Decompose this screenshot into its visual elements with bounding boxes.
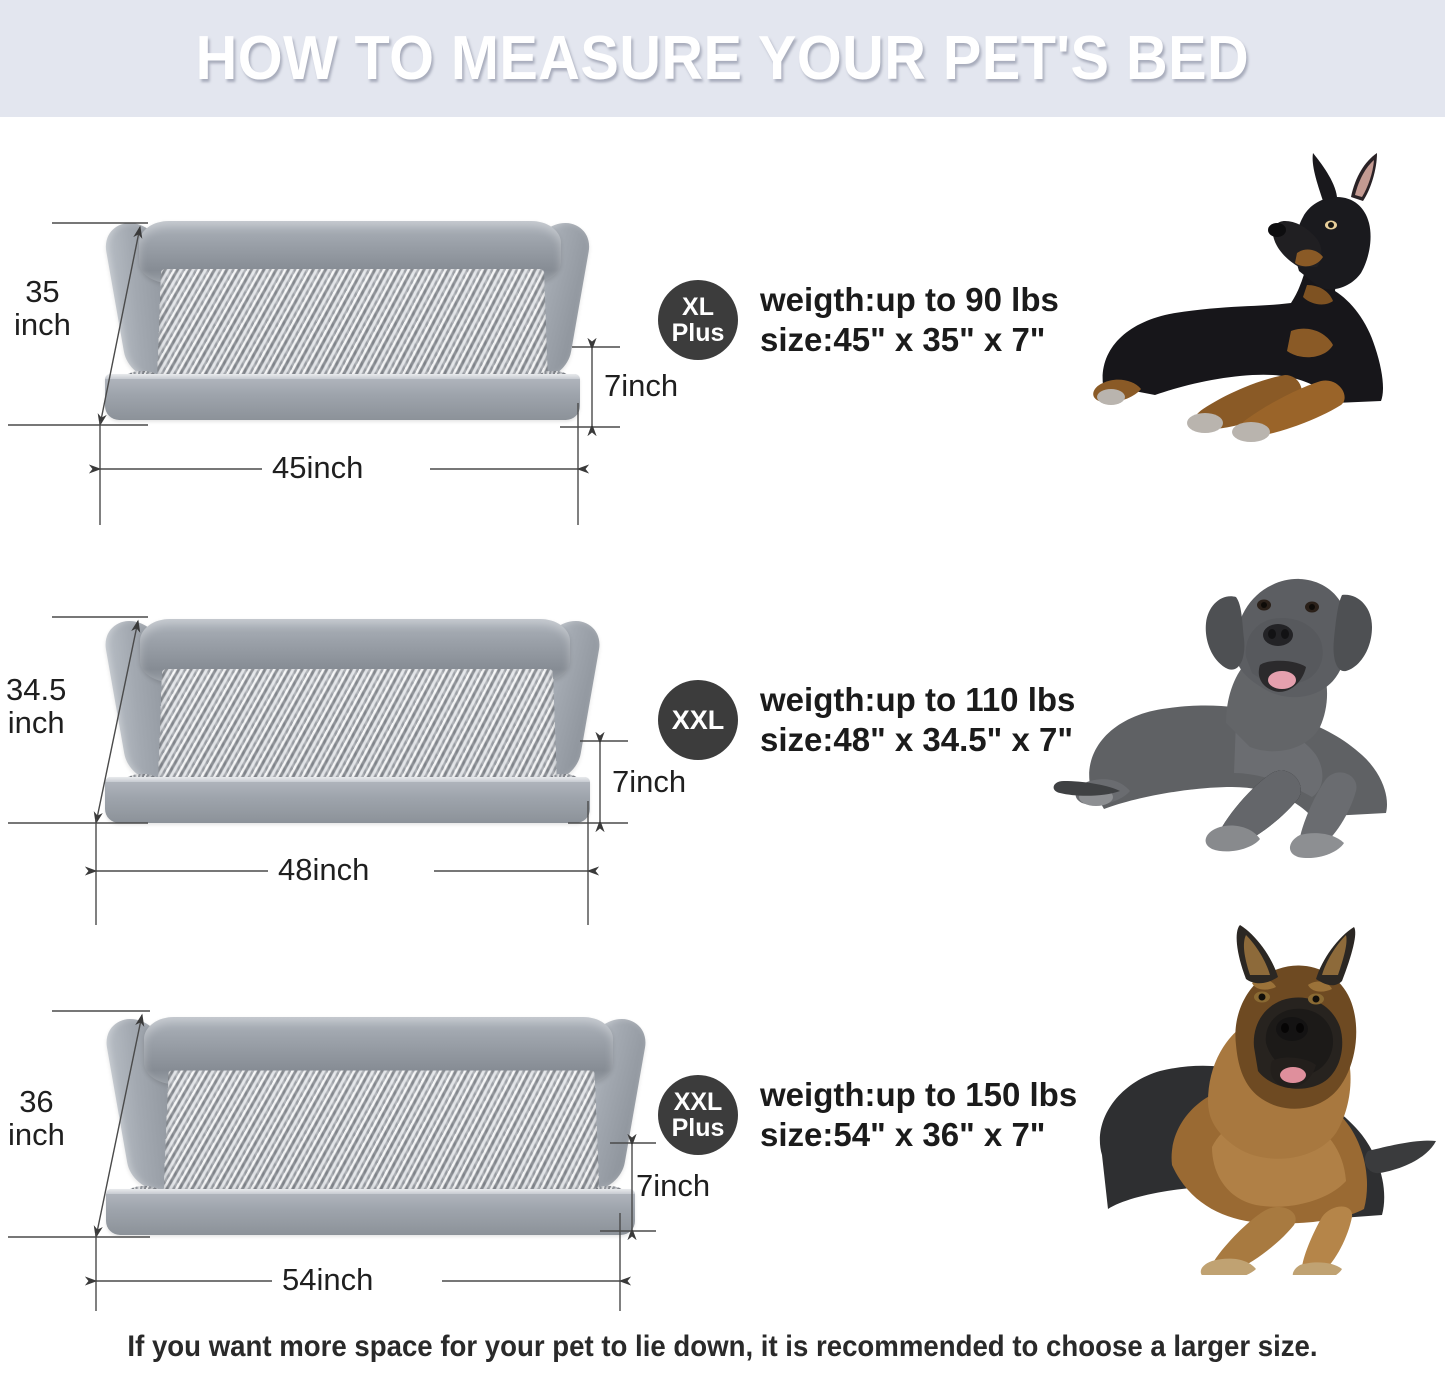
size-badge-line-1: XXL — [672, 707, 725, 733]
size-row-xxl-plus: 36 inch 54inch 7inch XXL Plus weigth:up … — [0, 925, 1445, 1315]
weight-line: weigth:up to 90 lbs — [760, 280, 1059, 320]
page-title: HOW TO MEASURE YOUR PET'S BED — [196, 23, 1249, 94]
bed-cushion — [163, 1070, 599, 1195]
pet-bed-illustration — [95, 613, 595, 823]
size-spec-block: XXL Plus weigth:up to 150 lbs size:54" x… — [658, 1075, 1077, 1155]
dimension-height-label: 34.5 inch — [6, 673, 66, 739]
size-row-xxl: 34.5 inch 48inch 7inch XXL weigth:up to … — [0, 535, 1445, 935]
size-row-xl-plus: 35 inch 45inch 7inch XL Plus weigth:up t… — [0, 135, 1445, 535]
dimension-depth-label: 7inch — [612, 765, 686, 798]
doberman-pinscher-photo — [1085, 135, 1445, 455]
dimension-width-label: 54inch — [282, 1263, 373, 1296]
bed-cushion — [158, 669, 557, 785]
size-badge-line-1: XXL — [674, 1089, 723, 1115]
size-line: size:45" x 35" x 7" — [760, 320, 1059, 360]
dimension-depth-label: 7inch — [604, 369, 678, 402]
page-header: HOW TO MEASURE YOUR PET'S BED — [0, 0, 1445, 117]
weight-line: weigth:up to 150 lbs — [760, 1075, 1077, 1115]
size-line: size:48" x 34.5" x 7" — [760, 720, 1075, 760]
weight-line: weigth:up to 110 lbs — [760, 680, 1075, 720]
dimension-depth-label: 7inch — [636, 1169, 710, 1202]
size-badge-line-2: Plus — [672, 1115, 725, 1141]
size-spec-block: XXL weigth:up to 110 lbs size:48" x 34.5… — [658, 680, 1075, 760]
dimension-height-label: 35 inch — [14, 275, 71, 341]
bed-illustration-zone: 34.5 inch 48inch 7inch — [0, 535, 660, 935]
dog-photo-zone — [1045, 925, 1445, 1315]
size-badge: XL Plus — [658, 280, 738, 360]
size-badge: XXL Plus — [658, 1075, 738, 1155]
size-badge: XXL — [658, 680, 738, 760]
dog-photo-zone — [1045, 135, 1445, 535]
dimension-width-label: 45inch — [272, 451, 363, 484]
german-shepherd-photo — [1050, 925, 1445, 1275]
great-dane-photo — [1050, 535, 1445, 865]
bed-base — [106, 1189, 635, 1235]
footer-note: If you want more space for your pet to l… — [58, 1330, 1387, 1364]
size-spec-text: weigth:up to 90 lbs size:45" x 35" x 7" — [760, 280, 1059, 360]
size-spec-text: weigth:up to 150 lbs size:54" x 36" x 7" — [760, 1075, 1077, 1155]
size-spec-block: XL Plus weigth:up to 90 lbs size:45" x 3… — [658, 280, 1059, 360]
bed-cushion — [157, 269, 548, 383]
size-badge-line-1: XL — [682, 294, 714, 320]
bed-base — [105, 374, 580, 420]
size-badge-line-2: Plus — [672, 320, 725, 346]
pet-bed-illustration — [95, 1010, 640, 1235]
size-spec-text: weigth:up to 110 lbs size:48" x 34.5" x … — [760, 680, 1075, 760]
dimension-height-label: 36 inch — [8, 1085, 65, 1151]
pet-bed-illustration — [95, 215, 585, 420]
bed-illustration-zone: 35 inch 45inch 7inch — [0, 135, 660, 535]
bed-base — [105, 777, 590, 823]
dog-photo-zone — [1045, 535, 1445, 935]
bed-illustration-zone: 36 inch 54inch 7inch — [0, 925, 660, 1315]
dimension-width-label: 48inch — [278, 853, 369, 886]
size-line: size:54" x 36" x 7" — [760, 1115, 1077, 1155]
